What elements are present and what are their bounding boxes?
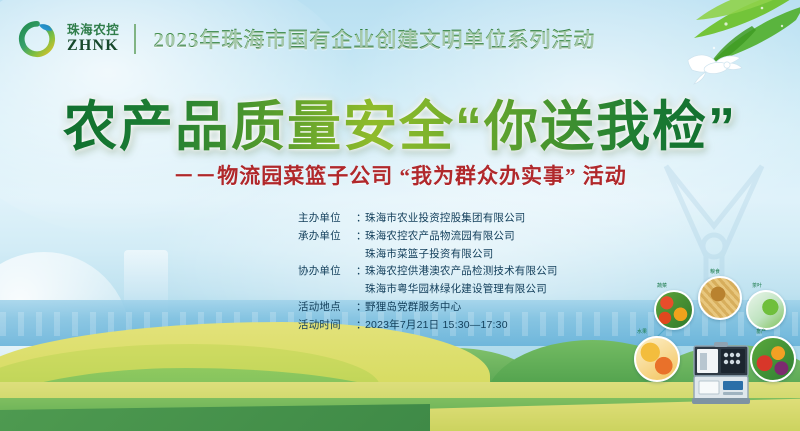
main-title-area: 农产品质量安全“你送我检” (0, 82, 800, 161)
leafy-greens-bubble (746, 290, 786, 330)
event-info-value: 珠海市农业投资控股集团有限公司 (365, 210, 526, 228)
brand-wordmark: 珠海农控 ZHNK (67, 24, 119, 55)
event-info-label (298, 246, 356, 264)
event-info-block: 主办单位：珠海市农业投资控股集团有限公司承办单位：珠海农控农产品物流园有限公司珠… (298, 210, 558, 335)
vegetables-bubble (654, 290, 694, 330)
event-info-label: 协办单位 (298, 263, 356, 281)
event-info-colon: ： (356, 263, 365, 281)
event-info-colon: ： (356, 317, 365, 335)
poster-canvas: 珠海农控 ZHNK 2023年珠海市国有企业创建文明单位系列活动 农产品质量安全… (0, 0, 800, 431)
brand-name-en: ZHNK (67, 38, 119, 54)
event-info-label (298, 281, 356, 299)
event-info-value: 野狸岛党群服务中心 (365, 299, 461, 317)
mixed-produce-bubble (750, 336, 796, 382)
event-info-row: 活动地点：野狸岛党群服务中心 (298, 299, 558, 317)
food-safety-detector-case (690, 336, 752, 406)
mixed-produce-bubble-label: 畜产 (756, 328, 766, 335)
leafy-greens-bubble-label: 茶叶 (752, 282, 762, 289)
event-info-colon (356, 281, 365, 299)
grain-bubble (698, 276, 742, 320)
event-info-colon: ： (356, 210, 365, 228)
vegetables-bubble-label: 蔬菜 (657, 282, 667, 289)
brand-name-cn: 珠海农控 (67, 24, 119, 37)
fruit-bubble-label: 水果 (637, 328, 647, 335)
grain-bubble-label: 粮食 (710, 268, 720, 275)
poster-main-title: 农产品质量安全“你送我检” (63, 82, 737, 161)
poster-subtitle: －－物流园菜篮子公司 “我为群众办实事” 活动 (173, 160, 627, 190)
event-info-row: 活动时间：2023年7月21日 15:30—17:30 (298, 317, 558, 335)
fruit-bubble (634, 336, 680, 382)
brand-header: 珠海农控 ZHNK 2023年珠海市国有企业创建文明单位系列活动 (18, 18, 595, 60)
campaign-header-title: 2023年珠海市国有企业创建文明单位系列活动 (153, 24, 595, 54)
event-info-label: 活动地点 (298, 299, 356, 317)
event-info-label: 承办单位 (298, 228, 356, 246)
event-info-colon: ： (356, 299, 365, 317)
event-info-value: 珠海市粤华园林绿化建设管理有限公司 (365, 281, 547, 299)
event-info-label: 活动时间 (298, 317, 356, 335)
event-info-row: 协办单位：珠海农控供港澳农产品检测技术有限公司 (298, 263, 558, 281)
event-info-label: 主办单位 (298, 210, 356, 228)
event-info-colon (356, 246, 365, 264)
event-info-row: 珠海市菜篮子投资有限公司 (298, 246, 558, 264)
event-info-row: 珠海市粤华园林绿化建设管理有限公司 (298, 281, 558, 299)
event-info-value: 珠海市菜篮子投资有限公司 (365, 246, 493, 264)
zhnk-ring-logo-icon (18, 20, 56, 58)
subtitle-area: －－物流园菜篮子公司 “我为群众办实事” 活动 (0, 160, 800, 190)
event-info-value: 珠海农控供港澳农产品检测技术有限公司 (365, 263, 558, 281)
event-info-value: 珠海农控农产品物流园有限公司 (365, 228, 515, 246)
event-info-value: 2023年7月21日 15:30—17:30 (365, 317, 508, 335)
event-info-row: 承办单位：珠海农控农产品物流园有限公司 (298, 228, 558, 246)
header-divider (134, 24, 136, 54)
event-info-colon: ： (356, 228, 365, 246)
event-info-row: 主办单位：珠海市农业投资控股集团有限公司 (298, 210, 558, 228)
